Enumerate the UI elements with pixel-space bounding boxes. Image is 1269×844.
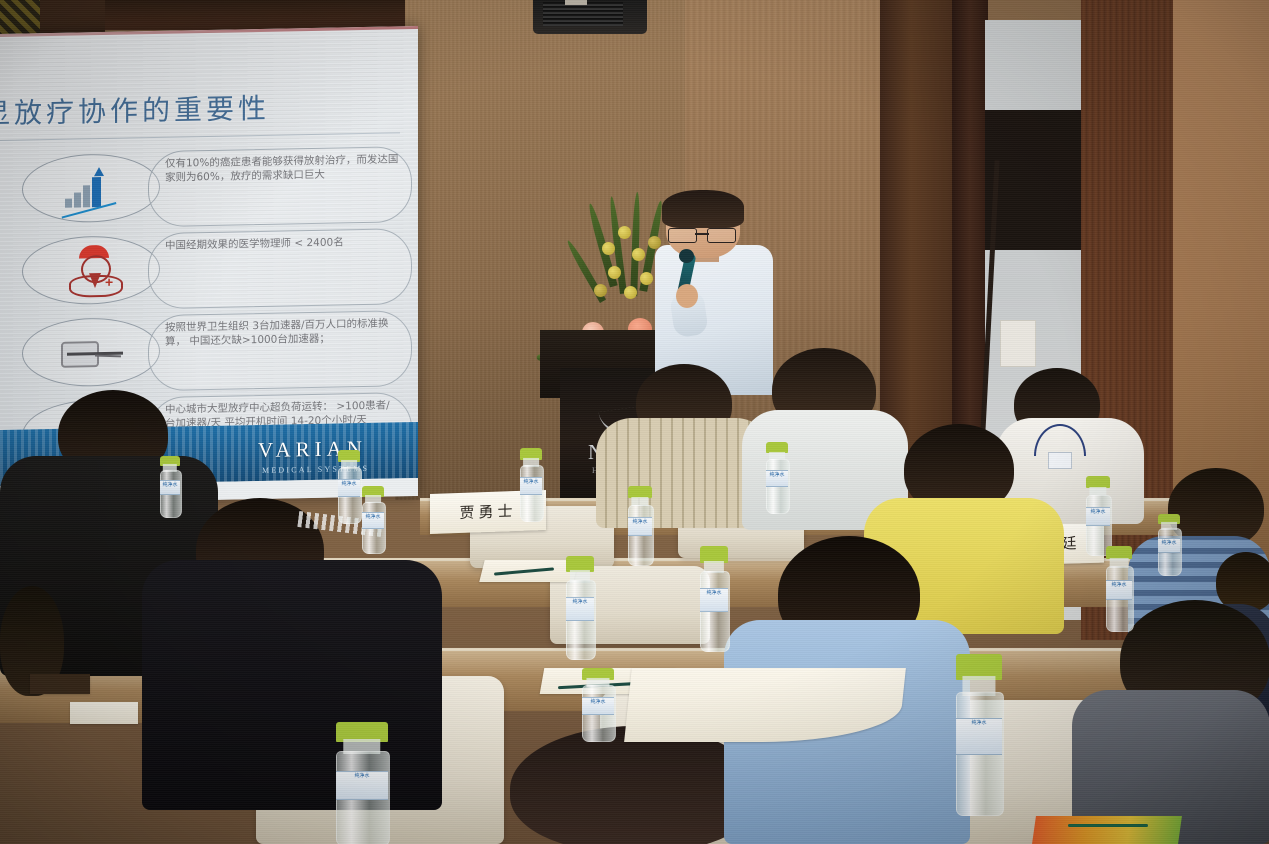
bottle-label: 纯净水 [362,513,384,521]
bottle-label: 纯净水 [160,481,180,489]
water-bottle: 纯净水 [700,546,728,650]
water-bottle: 纯净水 [566,556,594,658]
bottle-label: 纯净水 [520,478,542,486]
water-bottle: 纯净水 [1086,476,1110,554]
microphone-head [679,249,694,263]
water-bottle: 纯净水 [582,668,614,740]
bottle-label: 纯净水 [336,772,388,780]
water-bottle: 纯净水 [628,486,652,564]
bottle-label: 纯净水 [1158,539,1180,547]
bottle-label: 纯净水 [566,598,594,606]
water-bottle: 纯净水 [520,448,542,520]
slide-bullet-1: 仅有10%的癌症患者能够获得放射治疗，而发达国家则为60%，放疗的需求缺口巨大 [0,144,418,234]
bottle-label: 纯净水 [956,719,1002,727]
bottle-label: 纯净水 [1106,581,1132,589]
water-bottle: 纯净水 [1106,546,1132,630]
water-bottle: 纯净水 [336,722,388,844]
conference-photo: 显放疗协作的重要性 仅有10%的癌症患者能够获得放射治疗，而发达国家则为60%，… [0,0,1269,844]
water-bottle: 纯净水 [1158,514,1180,574]
water-bottle: 纯净水 [766,442,788,512]
linac-machine-icon [55,331,127,374]
slide-bullet-3: 按照世界卫生组织 3台加速器/百万人口的标准换算， 中国还欠缺>1000台加速器… [0,308,418,398]
bottle-label: 纯净水 [338,480,360,488]
bottle-label: 纯净水 [628,518,652,526]
bullet-text: 仅有10%的癌症患者能够获得放射治疗，而发达国家则为60%，放疗的需求缺口巨大 [165,152,400,185]
bottle-label: 纯净水 [582,698,614,706]
water-bottle: 纯净水 [956,654,1002,814]
growth-chart-icon [59,169,123,214]
loudspeaker-grille [543,2,623,26]
paper-sheet [70,702,138,724]
audience-head [1216,552,1269,612]
bottle-label: 纯净水 [700,589,728,597]
doorway-dark-panel [985,110,1081,250]
paper-sheet [30,674,90,694]
audience-head [510,726,760,844]
bullet-icon-pill [22,153,160,224]
water-bottle: 纯净水 [338,450,360,522]
badge-icon [1048,452,1072,469]
presenter-hair [662,190,744,228]
water-bottle: 纯净水 [362,486,384,552]
doorway-bag [1000,320,1036,367]
loudspeaker-led [565,0,587,5]
bullet-icon-pill: + [22,235,160,306]
bottle-label: 纯净水 [766,471,788,479]
doctor-medical-icon: + [67,245,121,296]
bottle-label: 纯净水 [1086,508,1110,516]
audience-torso [142,560,442,810]
slide-bullet-2: + 中国经期效果的医学物理师 < 2400名 [0,226,418,316]
colored-handout [1032,816,1182,844]
slide-title: 显放疗协作的重要性 [0,87,270,133]
pen-icon [1068,824,1148,827]
bullet-text: 按照世界卫生组织 3台加速器/百万人口的标准换算， 中国还欠缺>1000台加速器… [165,316,400,349]
slide-divider [0,132,400,141]
eyeglasses-icon [668,228,736,241]
bullet-icon-pill [22,317,160,388]
water-bottle: 纯净水 [160,456,180,516]
wall-top-dark-strip [105,0,405,30]
presenter-hand [676,284,698,308]
